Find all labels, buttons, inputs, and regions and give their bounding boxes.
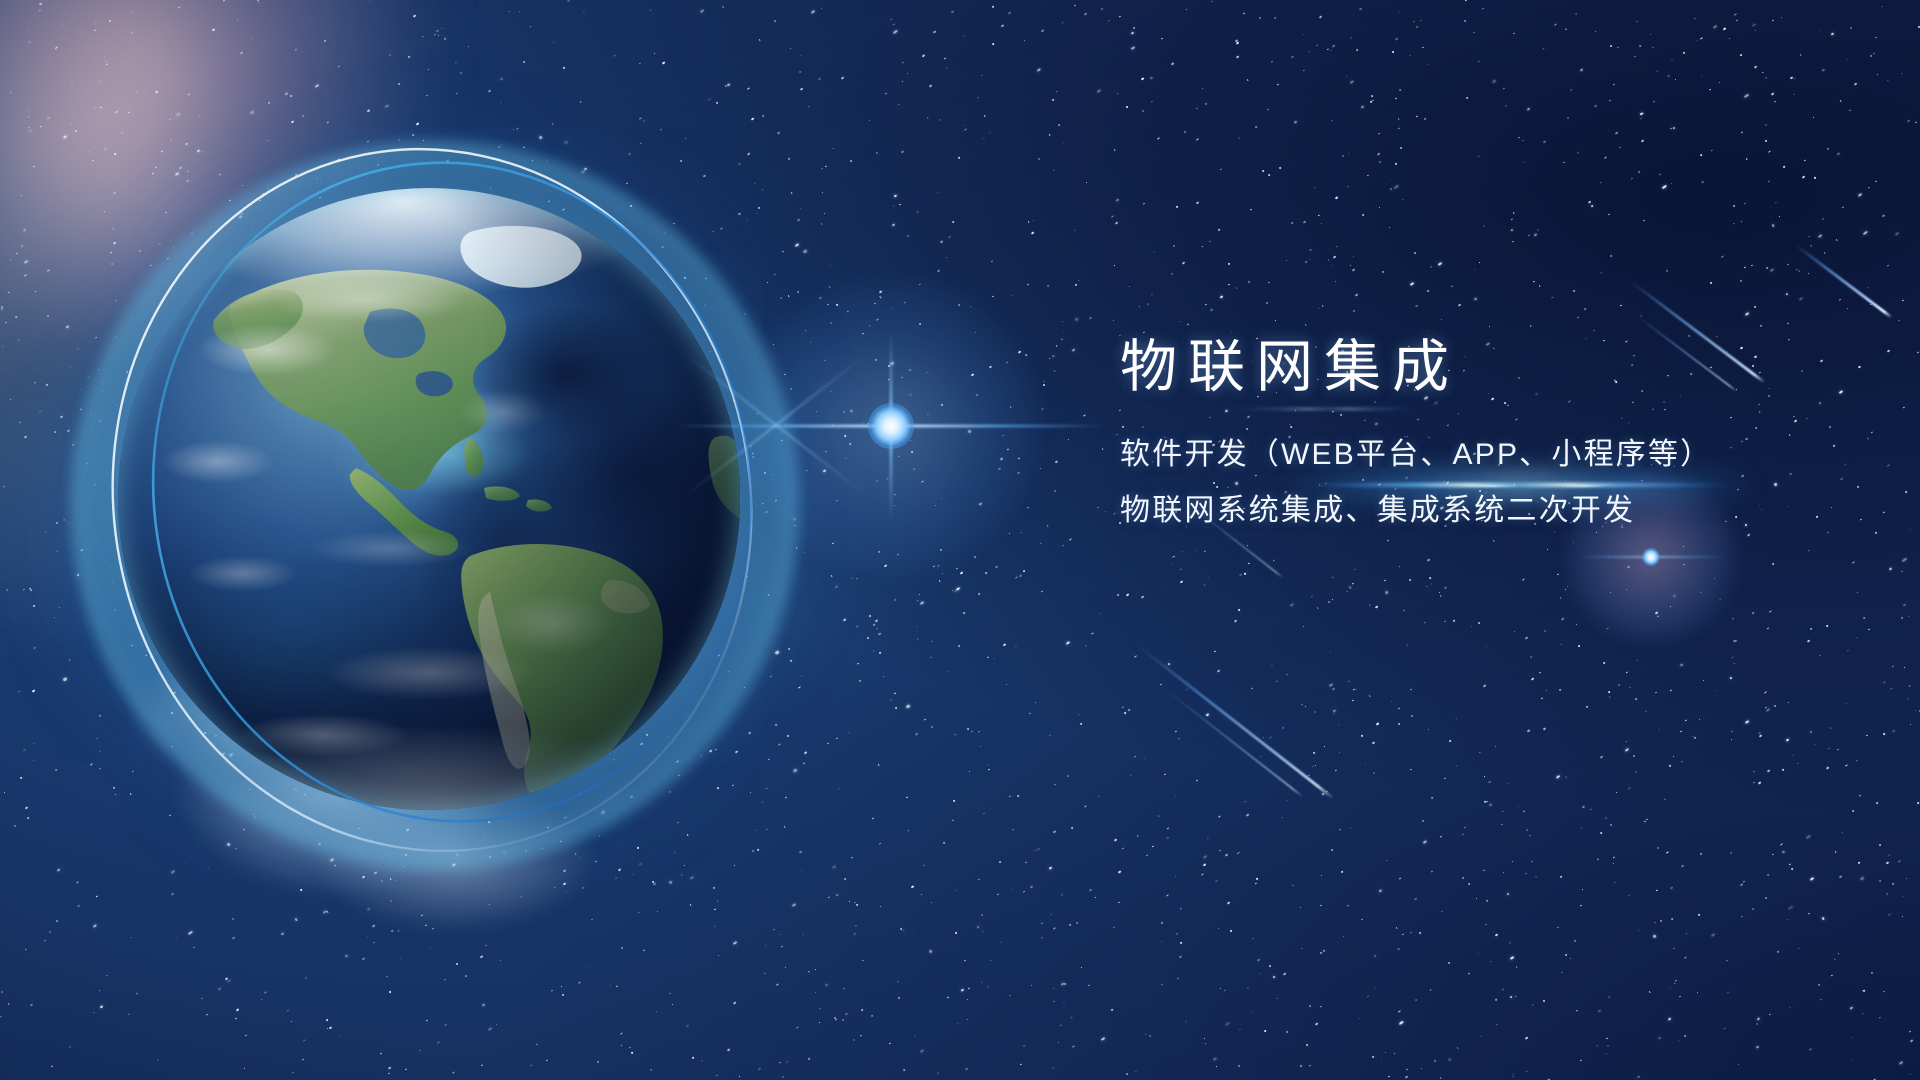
globe-atmosphere-limb xyxy=(118,188,740,810)
earth-globe xyxy=(118,188,740,810)
banner-copy: 物联网集成 软件开发（WEB平台、APP、小程序等） 物联网系统集成、集成系统二… xyxy=(1120,338,1820,526)
subtitle-line-1: 软件开发（WEB平台、APP、小程序等） xyxy=(1120,440,1820,470)
subtitle-list: 软件开发（WEB平台、APP、小程序等） 物联网系统集成、集成系统二次开发 xyxy=(1120,440,1820,526)
hero-banner: 物联网集成 软件开发（WEB平台、APP、小程序等） 物联网系统集成、集成系统二… xyxy=(0,0,1920,1080)
subtitle-line-2: 物联网系统集成、集成系统二次开发 xyxy=(1120,496,1820,526)
page-title: 物联网集成 xyxy=(1120,338,1820,396)
